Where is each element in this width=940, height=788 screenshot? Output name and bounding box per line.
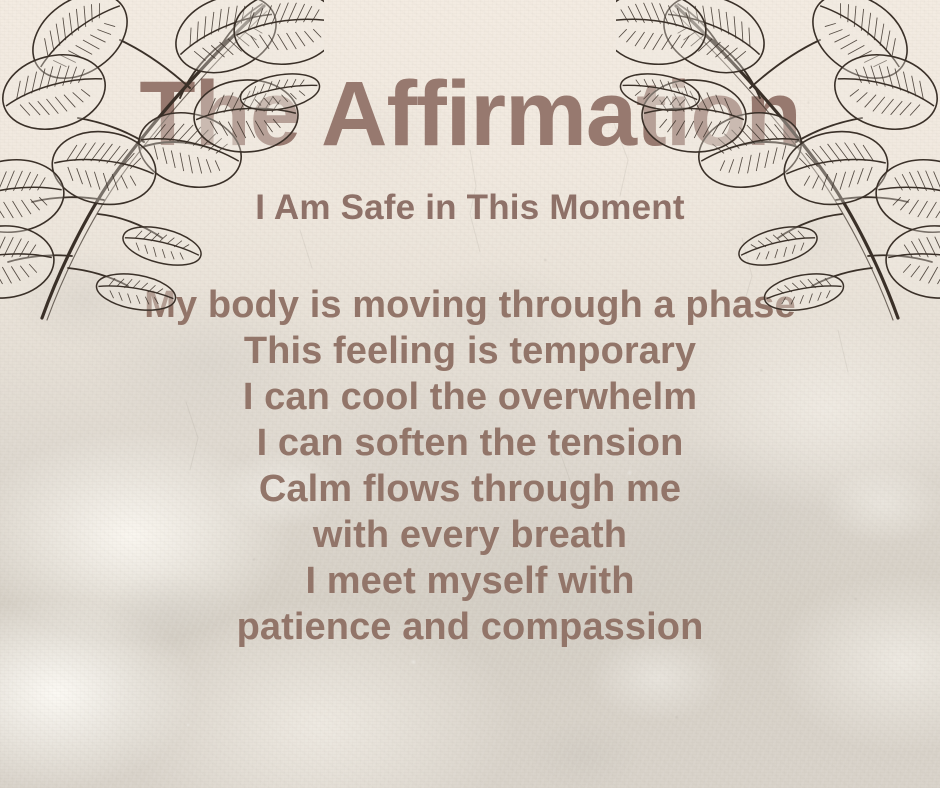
poster-content: The Affirmation I Am Safe in This Moment… [0,0,940,788]
affirmation-line: This feeling is temporary [0,328,940,374]
affirmation-lines: My body is moving through a phase This f… [0,282,940,650]
affirmation-line: with every breath [0,512,940,558]
affirmation-line: I can soften the tension [0,420,940,466]
page-subtitle: I Am Safe in This Moment [0,190,940,225]
affirmation-line: patience and compassion [0,604,940,650]
affirmation-poster: The Affirmation I Am Safe in This Moment… [0,0,940,788]
affirmation-line: My body is moving through a phase [0,282,940,328]
page-title: The Affirmation [0,68,940,160]
affirmation-line: Calm flows through me [0,466,940,512]
affirmation-line: I meet myself with [0,558,940,604]
affirmation-line: I can cool the overwhelm [0,374,940,420]
